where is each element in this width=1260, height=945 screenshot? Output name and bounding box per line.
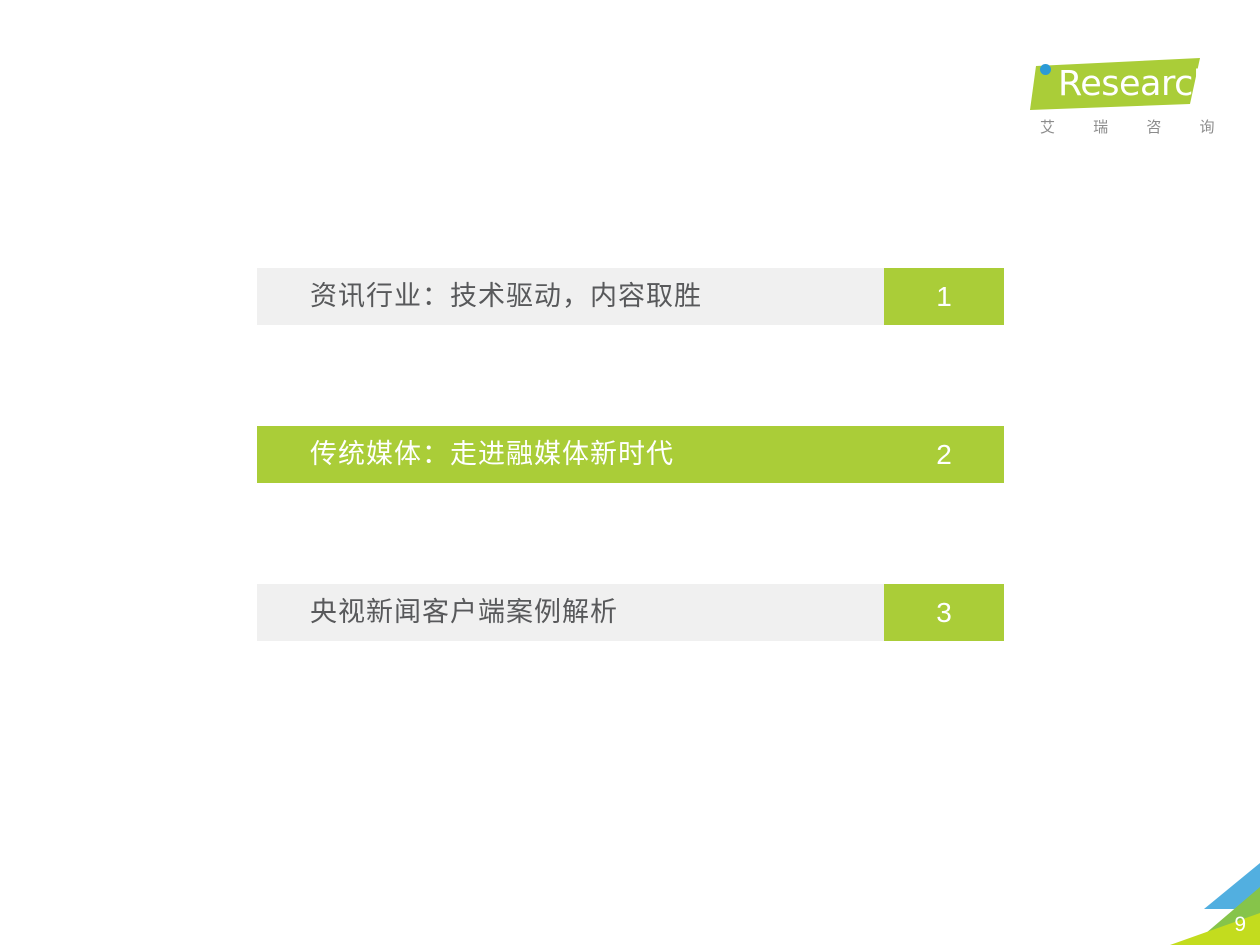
agenda-item-3[interactable]: 央视新闻客户端案例解析 3 bbox=[257, 584, 1004, 641]
logo-i-dot-icon bbox=[1040, 64, 1051, 75]
agenda-list: 资讯行业：技术驱动，内容取胜 1 传统媒体：走进融媒体新时代 2 央视新闻客户端… bbox=[257, 268, 1004, 641]
agenda-item-1-number: 1 bbox=[884, 268, 1004, 325]
logo-i-stem-icon bbox=[1040, 78, 1051, 108]
agenda-item-3-title: 央视新闻客户端案例解析 bbox=[257, 584, 884, 641]
agenda-item-2-title: 传统媒体：走进融媒体新时代 bbox=[257, 426, 884, 483]
agenda-item-1-title: 资讯行业：技术驱动，内容取胜 bbox=[257, 268, 884, 325]
iresearch-logo: Research 艾 瑞 咨 询 bbox=[1030, 58, 1210, 150]
logo-wordmark: Research bbox=[1058, 62, 1215, 106]
agenda-item-2-number: 2 bbox=[884, 426, 1004, 483]
slide-canvas: Research 艾 瑞 咨 询 资讯行业：技术驱动，内容取胜 1 传统媒体：走… bbox=[0, 0, 1260, 945]
logo-subtitle: 艾 瑞 咨 询 bbox=[1040, 116, 1232, 137]
agenda-item-1[interactable]: 资讯行业：技术驱动，内容取胜 1 bbox=[257, 268, 1004, 325]
logo-letter-i bbox=[1038, 64, 1054, 108]
agenda-item-3-number: 3 bbox=[884, 584, 1004, 641]
page-number: 9 bbox=[1234, 914, 1246, 935]
agenda-item-2[interactable]: 传统媒体：走进融媒体新时代 2 bbox=[257, 426, 1004, 483]
